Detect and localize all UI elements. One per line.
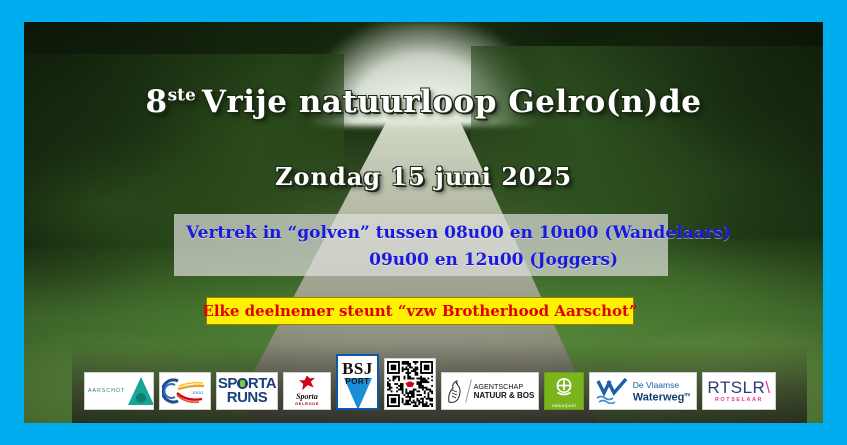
rotselaar-sublabel: ROTSELAAR [715,396,763,404]
sponsor-logo-strip: AARSCHOT JOGG SPRTA RUNS [84,368,764,410]
start-times-band: Vertrek in “golven” tussen 08u00 en 10u0… [174,214,668,276]
page-title: 8steVrije natuurloop Gelro(n)de [0,84,847,120]
sponsor-logo-agentschap-natuur-en-bos[interactable]: AGENTSCHAP NATUUR & BOS [441,372,539,410]
charity-banner-text: Elke deelnemer steunt “vzw Brotherhood A… [202,302,637,320]
aarschot-label: AARSCHOT [88,388,125,394]
charity-banner: Elke deelnemer steunt “vzw Brotherhood A… [206,297,634,325]
natuurpunt-symbol-icon [554,377,575,398]
start-times-walkers: Vertrek in “golven” tussen 08u00 en 10u0… [186,220,656,247]
natuurpunt-label: natuurpunt [545,403,583,408]
sporta-runs-line2: RUNS [227,391,268,405]
sporta-gelrode-sublabel: GELRODE [295,401,319,407]
dvw-label: De Vlaamse Waterwegnv [633,380,690,403]
sponsor-logo-bsj-sport[interactable]: BSJ PORT [336,354,379,410]
title-ordinal: 8 [146,84,168,120]
flemish-lion-icon [446,378,463,404]
qr-code-icon [387,361,433,407]
sponsor-logo-sporta-runs[interactable]: SPRTA RUNS [216,372,278,410]
event-poster: 8steVrije natuurloop Gelro(n)de Zondag 1… [0,0,847,445]
bsj-label: BSJ [338,359,377,379]
svg-text:JOGG: JOGG [192,390,203,395]
sporta-gelrode-label: Sporta [296,393,318,401]
rotselaar-logo-icon: RTSLR\ [707,379,770,396]
sponsor-logo-de-vlaamse-waterweg[interactable]: De Vlaamse Waterwegnv [589,372,697,410]
sponsor-logo-natuurpunt[interactable]: natuurpunt [544,372,584,410]
aarschot-a-monogram-icon [128,377,150,405]
vlaamse-waterweg-vv-icon [596,378,630,404]
registration-qr-code[interactable] [384,358,436,410]
sponsor-logo-athletics-swirl[interactable]: JOGG [159,372,211,410]
anb-divider [465,379,472,403]
swirl-logo-icon: JOGG [162,377,208,405]
title-main-text: Vrije natuurloop Gelro(n)de [202,84,702,120]
sporta-runs-runner-icon [237,378,248,389]
sponsor-logo-aarschot[interactable]: AARSCHOT [84,372,154,410]
event-date-subtitle: Zondag 15 juni 2025 [0,162,847,191]
bsj-sport-pennant-icon: BSJ PORT [338,356,377,408]
bsj-sublabel: PORT [338,378,377,386]
anb-label: AGENTSCHAP NATUUR & BOS [474,382,535,400]
sponsor-logo-rotselaar[interactable]: RTSLR\ ROTSELAAR [702,372,776,410]
sporta-gelrode-logo-icon [299,376,315,392]
title-ordinal-suffix: ste [168,86,196,106]
start-times-joggers: 09u00 en 12u00 (Joggers) [186,247,656,274]
sponsor-logo-sporta-gelrode[interactable]: Sporta GELRODE [283,372,331,410]
